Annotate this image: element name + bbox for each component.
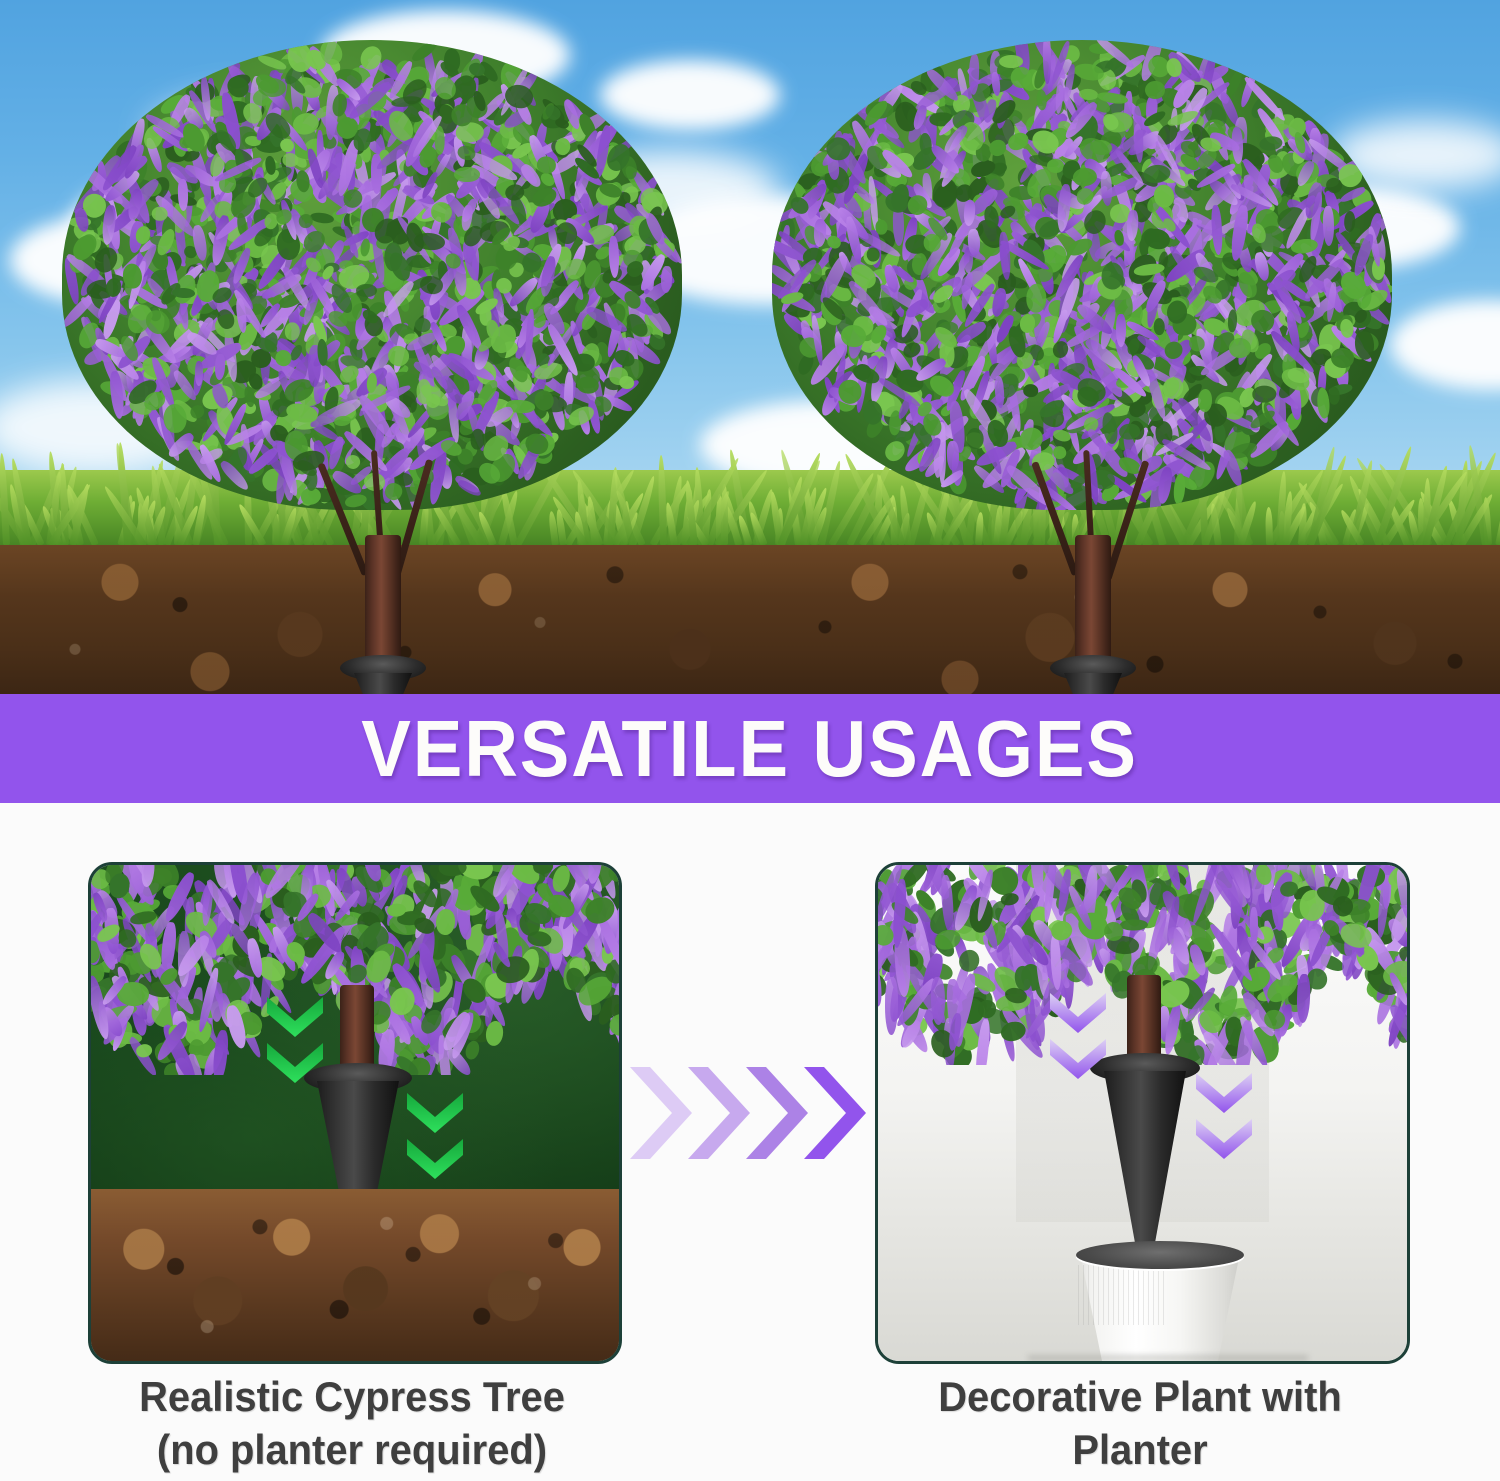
grass-blade (0, 453, 10, 545)
leaf (1120, 919, 1148, 931)
soil-bed (91, 1189, 619, 1361)
flower-spike (619, 909, 622, 939)
lavender-topiary-tree-right (772, 40, 1412, 694)
leaf (416, 379, 431, 404)
flower-spike (1323, 206, 1335, 246)
flower-spike (1043, 40, 1051, 84)
flower-spike (1296, 974, 1310, 1023)
planter-shadow (1028, 1355, 1308, 1361)
transition-arrows (630, 1067, 870, 1159)
leaf (464, 1040, 482, 1062)
leaf (1328, 387, 1339, 405)
chevron-group-green-right (407, 1093, 463, 1179)
chevron-right-icon (804, 1067, 866, 1159)
ground-stake (1064, 673, 1122, 694)
hero-image (0, 0, 1500, 694)
tree-canopy (772, 40, 1392, 510)
chevron-right-icon (630, 1067, 692, 1159)
leaf (436, 908, 456, 935)
chevron-right-icon (688, 1067, 750, 1159)
flower-spike (813, 219, 827, 247)
leaf (1408, 908, 1410, 940)
chevron-group-purple-left (1050, 993, 1106, 1079)
usage-card-planter-install[interactable] (875, 862, 1410, 1364)
leaf (999, 55, 1023, 68)
chevron-down-icon (1196, 1073, 1252, 1113)
leaf (1079, 87, 1100, 100)
leaf (189, 1039, 204, 1056)
leaf (88, 899, 90, 930)
caption-line-1: Decorative Plant with (865, 1371, 1416, 1424)
chevron-group-green-left (267, 997, 323, 1083)
tree-trunk (1075, 535, 1111, 670)
leaf (1308, 968, 1328, 989)
ground-stake (354, 673, 412, 694)
flower-spike (619, 1003, 622, 1054)
chevron-down-icon (267, 1043, 323, 1083)
caption-planter-install: Decorative Plant with Planter (865, 1371, 1416, 1477)
chevron-down-icon (1050, 1039, 1106, 1079)
leaf (1023, 384, 1039, 398)
grass-blade (1495, 503, 1500, 546)
leaf (1036, 89, 1047, 111)
flower-spike (621, 865, 622, 920)
leaf (285, 322, 300, 340)
chevron-right-icon (746, 1067, 808, 1159)
planter-ribs (1078, 1265, 1168, 1325)
caption-line-1: Realistic Cypress Tree (75, 1371, 630, 1424)
leaf (444, 48, 461, 72)
chevron-down-icon (407, 1093, 463, 1133)
flower-spike (947, 441, 959, 471)
flower-spike (660, 266, 672, 293)
usages-section: Realistic Cypress Tree (no planter requi… (0, 803, 1500, 1481)
tree-canopy (62, 40, 682, 510)
leaf (1197, 389, 1211, 412)
leaf (356, 284, 377, 298)
flower-spike (619, 958, 622, 987)
flower-spike (620, 903, 622, 970)
flower-spike (885, 977, 898, 1035)
versatile-usages-banner: VERSATILE USAGES (0, 694, 1500, 803)
leaf (1154, 318, 1165, 335)
leaf (967, 428, 984, 449)
product-infographic-page: VERSATILE USAGES (0, 0, 1500, 1481)
caption-ground-install: Realistic Cypress Tree (no planter requi… (75, 1371, 630, 1477)
chevron-down-icon (407, 1139, 463, 1179)
leaf (875, 928, 876, 965)
leaf (875, 220, 887, 235)
usage-card-ground-install[interactable] (88, 862, 622, 1364)
lavender-topiary-tree-left (62, 40, 702, 694)
leaf (826, 137, 850, 160)
chevron-down-icon (1050, 993, 1106, 1033)
chevron-group-purple-right (1196, 1073, 1252, 1159)
tree-trunk (365, 535, 401, 670)
chevron-down-icon (267, 997, 323, 1037)
planter-rim (1076, 1241, 1244, 1269)
leaf (923, 233, 941, 251)
caption-line-2: Planter (865, 1424, 1416, 1477)
caption-line-2: (no planter required) (75, 1424, 630, 1477)
chevron-down-icon (1196, 1119, 1252, 1159)
leaf (454, 167, 480, 183)
banner-title: VERSATILE USAGES (362, 709, 1139, 789)
leaf (256, 53, 287, 73)
leaf (310, 211, 335, 224)
